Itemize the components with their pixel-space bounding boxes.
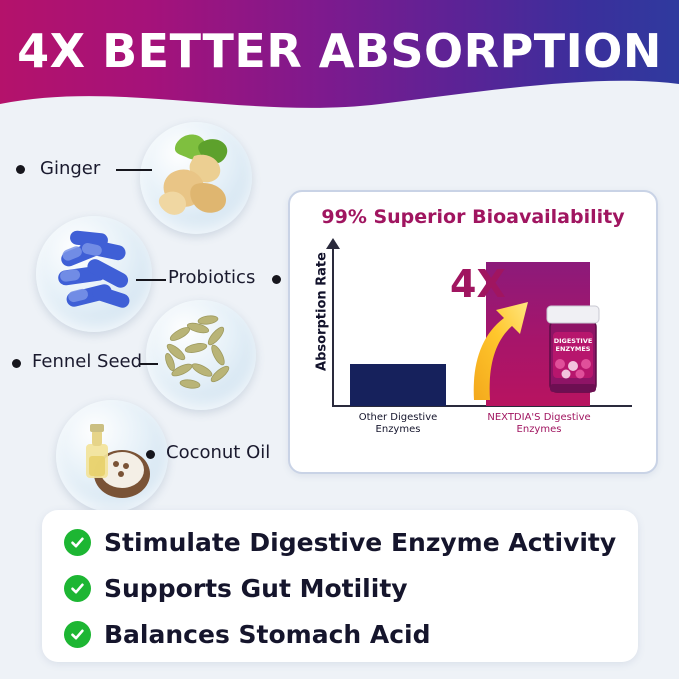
header-banner: 4X BETTER ABSORPTION (0, 0, 679, 118)
fennel-connector-line (140, 363, 158, 365)
svg-text:DIGESTIVE: DIGESTIVE (554, 337, 593, 345)
ginger-bowl (140, 122, 252, 234)
product-jar-icon: DIGESTIVE ENZYMES (542, 302, 604, 402)
benefit-item-3: Balances Stomach Acid (64, 620, 431, 649)
chart-title: 99% Superior Bioavailability (290, 206, 656, 228)
x-tick-label-other: Other Digestive Enzymes (342, 412, 454, 436)
chart-y-axis-label: Absorption Rate (315, 242, 330, 382)
fennel-bullet-dot (12, 359, 21, 368)
benefit-item-1: Stimulate Digestive Enzyme Activity (64, 528, 616, 557)
svg-text:ENZYMES: ENZYMES (556, 345, 591, 353)
benefit-label-1: Stimulate Digestive Enzyme Activity (104, 528, 616, 557)
coconut-bullet-dot (146, 450, 155, 459)
check-icon (64, 621, 91, 648)
benefit-label-3: Balances Stomach Acid (104, 620, 431, 649)
bioavailability-chart-card: 99% Superior Bioavailability Absorption … (288, 190, 658, 474)
fennel-seeds-icon (146, 300, 256, 410)
x-tick-label-nextdias: NEXTDIA'S Digestive Enzymes (476, 412, 602, 436)
check-icon (64, 575, 91, 602)
probiotics-bowl (36, 216, 152, 332)
ginger-connector-line (116, 169, 152, 171)
check-icon (64, 529, 91, 556)
capsules-icon (36, 216, 152, 332)
growth-arrow-icon (466, 288, 536, 403)
benefit-label-2: Supports Gut Motility (104, 574, 408, 603)
ingredient-label-fennel: Fennel Seed (32, 351, 142, 372)
ingredients-panel: Ginger Probiotics (0, 110, 290, 490)
bar-other-digestive-enzymes (350, 364, 446, 406)
ginger-root-icon (140, 122, 252, 234)
ingredient-label-probiotics: Probiotics (168, 267, 255, 288)
probiotics-bullet-dot (272, 275, 281, 284)
fennel-bowl (146, 300, 256, 410)
chart-y-axis (332, 248, 334, 407)
page-title: 4X BETTER ABSORPTION (0, 24, 679, 78)
probiotics-connector-line (136, 279, 166, 281)
ingredient-label-ginger: Ginger (40, 158, 100, 179)
ginger-bullet-dot (16, 165, 25, 174)
benefits-panel: Stimulate Digestive Enzyme Activity Supp… (42, 510, 638, 662)
benefit-item-2: Supports Gut Motility (64, 574, 408, 603)
ingredient-label-coconut: Coconut Oil (166, 442, 270, 463)
